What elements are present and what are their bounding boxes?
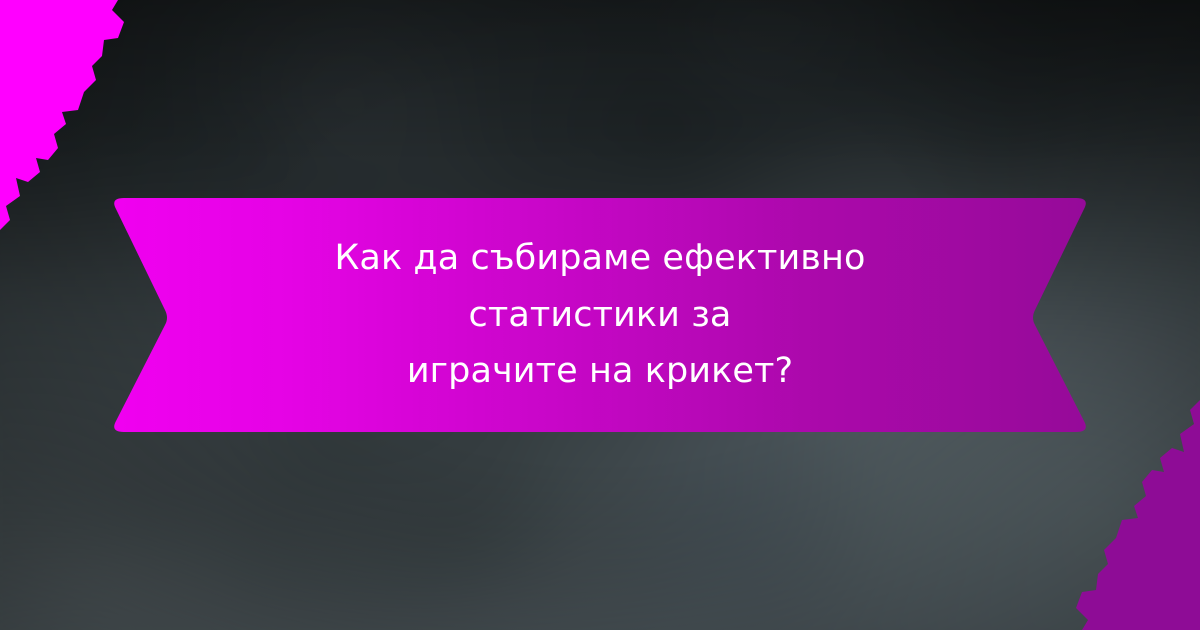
headline-ribbon: Как да събираме ефективно статистики за … xyxy=(110,198,1090,432)
social-card: Как да събираме ефективно статистики за … xyxy=(0,0,1200,630)
headline-line-1: Как да събираме ефективно статистики за xyxy=(230,230,970,343)
headline-line-2: играчите на крикет? xyxy=(407,343,793,400)
headline-block: Как да събираме ефективно статистики за … xyxy=(110,198,1090,432)
